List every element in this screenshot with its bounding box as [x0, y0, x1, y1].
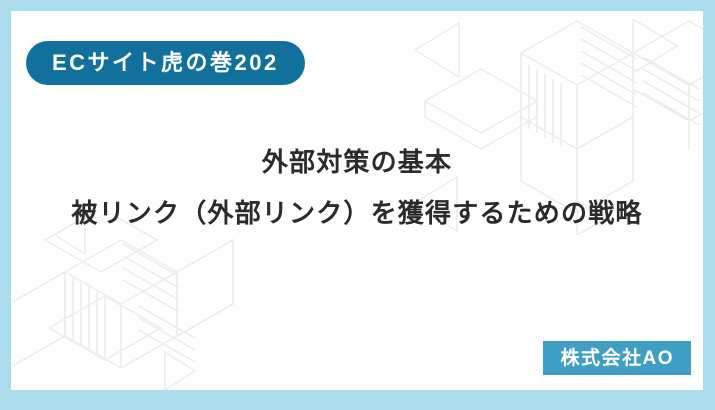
- series-badge: ECサイト虎の巻202: [26, 41, 305, 85]
- company-badge-label: 株式会社AO: [560, 349, 674, 368]
- page-title: 外部対策の基本 被リンク（外部リンク）を獲得するための戦略: [11, 149, 703, 226]
- title-line-2: 被リンク（外部リンク）を獲得するための戦略: [11, 200, 703, 226]
- slide-frame: ECサイト虎の巻202 外部対策の基本 被リンク（外部リンク）を獲得するための戦…: [0, 0, 715, 410]
- slide-canvas: ECサイト虎の巻202 外部対策の基本 被リンク（外部リンク）を獲得するための戦…: [11, 11, 703, 390]
- company-badge: 株式会社AO: [543, 341, 691, 375]
- title-line-1: 外部対策の基本: [11, 149, 703, 175]
- isometric-pattern-bottom-left: [11, 210, 319, 390]
- series-badge-label: ECサイト虎の巻202: [52, 52, 279, 74]
